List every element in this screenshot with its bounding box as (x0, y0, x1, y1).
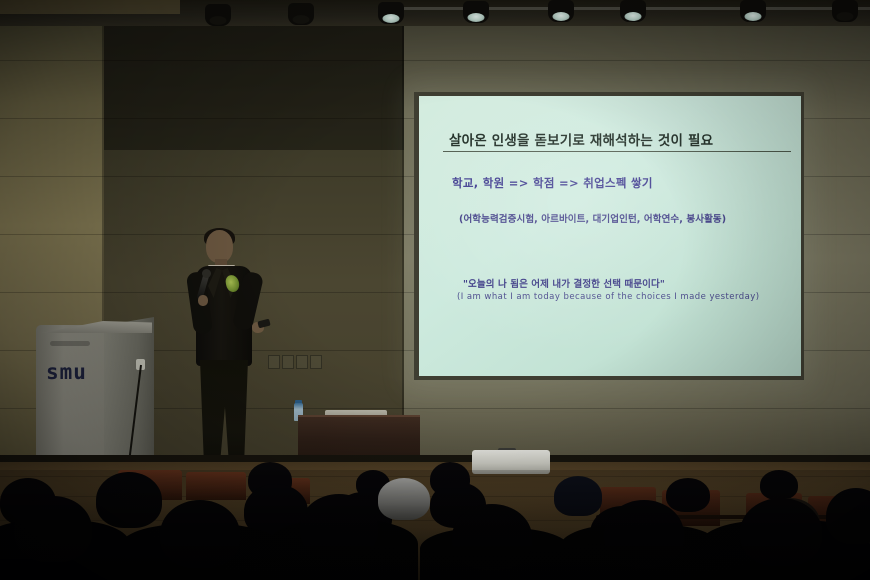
ceiling-light (548, 0, 574, 22)
audience-head (14, 496, 92, 562)
light-bulb (468, 13, 485, 22)
slide-quote-english: (I am what I am today because of the cho… (457, 292, 760, 302)
auditorium-seat (186, 472, 246, 500)
audience-head (452, 504, 532, 570)
podium-front-panel (36, 325, 104, 469)
slide-title-underline (443, 151, 791, 152)
light-bulb (383, 14, 400, 23)
light-bulb (745, 12, 762, 21)
ceiling-light (620, 0, 646, 22)
audience-head (300, 494, 378, 560)
slide-quote-korean: "오늘의 나 됨은 어제 내가 결정한 선택 때문이다" (463, 276, 665, 290)
audience-head (554, 476, 602, 516)
ceiling-light (463, 1, 489, 23)
audience-head (740, 498, 822, 566)
wall-seam (0, 60, 870, 61)
wall-outlet (296, 355, 308, 369)
podium: smu (36, 317, 154, 469)
wall-vertical-seam (402, 0, 404, 470)
ceiling-light (740, 0, 766, 22)
podium-logo: smu (46, 360, 87, 384)
speaker-trousers (200, 360, 248, 462)
projection-screen: 살아온 인생을 돋보기로 재해석하는 것이 필요 학교, 학원 => 학점 =>… (419, 96, 801, 376)
light-bulb (293, 15, 310, 24)
audience-head-with-cap (378, 478, 430, 520)
presentation-clicker (257, 319, 270, 329)
audience-head (160, 500, 240, 568)
slide-title: 살아온 인생을 돋보기로 재해석하는 것이 필요 (449, 129, 713, 149)
podium-side-panel (102, 317, 154, 467)
light-bulb (553, 12, 570, 21)
ceiling-beam (0, 0, 180, 14)
podium-handle-slot (50, 341, 90, 346)
ceiling-light (205, 4, 231, 26)
wall-outlet (310, 355, 322, 369)
light-bulb (625, 12, 642, 21)
speaker (178, 228, 284, 470)
slide-bullet-detail: (어학능력검증시험, 아르바이트, 대기업인턴, 어학연수, 봉사활동) (459, 211, 726, 225)
slide-bullet-path: 학교, 학원 => 학점 => 취업스펙 쌓기 (452, 175, 653, 191)
audience-head (604, 500, 684, 568)
ceiling-light (288, 3, 314, 25)
audience-head (760, 470, 798, 500)
audience-head (96, 472, 162, 528)
microphone-head (202, 269, 211, 278)
audience-head (666, 478, 710, 512)
audience-head (826, 488, 870, 544)
speaker-hand-left (198, 295, 208, 306)
ceiling-light (832, 0, 858, 22)
lecture-hall-photo: 살아온 인생을 돋보기로 재해석하는 것이 필요 학교, 학원 => 학점 =>… (0, 0, 870, 580)
projector (472, 450, 550, 474)
ceiling-light (378, 2, 404, 24)
light-bulb (210, 16, 227, 25)
light-bulb (837, 12, 854, 21)
